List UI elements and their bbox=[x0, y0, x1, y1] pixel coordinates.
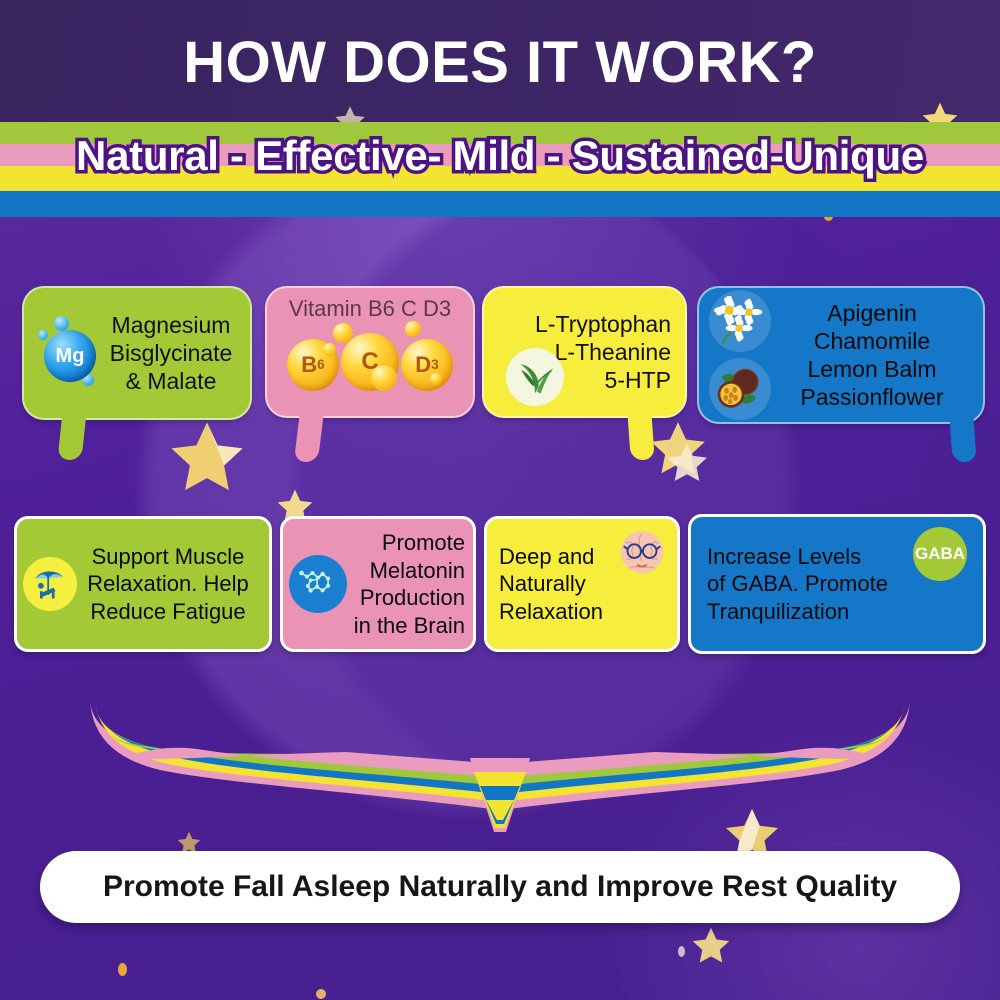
confetti-dot bbox=[118, 963, 127, 976]
card-gaba[interactable]: Increase Levels of GABA. Promote Tranqui… bbox=[688, 514, 986, 654]
green-leaf-icon bbox=[506, 348, 564, 406]
star-decoration bbox=[690, 925, 732, 967]
card-muscle-relaxation[interactable]: Support Muscle Relaxation. Help Reduce F… bbox=[14, 516, 272, 652]
benefits-row: Support Muscle Relaxation. Help Reduce F… bbox=[0, 512, 1000, 662]
card-magnesium-text: Magnesium Bisglycinate & Malate bbox=[104, 311, 238, 395]
stripe-blue bbox=[0, 191, 1000, 217]
herb-icon-group bbox=[705, 290, 771, 420]
card-melatonin-text: Promote Melatonin Production in the Brai… bbox=[347, 529, 465, 639]
vitamin-capsules-icon: B6 C D3 bbox=[275, 325, 465, 391]
capsule-d3: D3 bbox=[401, 339, 453, 391]
card-melatonin[interactable]: Promote Melatonin Production in the Brai… bbox=[280, 516, 476, 652]
star-decoration bbox=[664, 440, 710, 486]
card-herbs[interactable]: Apigenin Chamomile Lemon Balm Passionflo… bbox=[697, 286, 985, 424]
page-title: HOW DOES IT WORK? bbox=[0, 33, 1000, 94]
footer-pill: Promote Fall Asleep Naturally and Improv… bbox=[40, 851, 960, 923]
passionfruit-icon bbox=[709, 358, 771, 420]
chamomile-flower-icon bbox=[709, 290, 771, 352]
beach-lounger-icon bbox=[23, 557, 77, 611]
card-gaba-text: Increase Levels of GABA. Promote Tranqui… bbox=[707, 543, 913, 626]
tagline-banner: Natural - Effective- Mild - Sustained-Un… bbox=[0, 132, 1000, 180]
bubble-tail bbox=[949, 416, 976, 462]
confetti-dot bbox=[316, 989, 326, 999]
bubble-tail bbox=[57, 412, 86, 460]
funnel-right-wing bbox=[500, 700, 910, 810]
infographic-canvas: HOW DOES IT WORK? Natural - Effective- M… bbox=[0, 0, 1000, 1000]
gaba-badge-icon: GABA bbox=[913, 527, 967, 581]
card-deep-relaxation[interactable]: Deep and Naturally Relaxation bbox=[484, 516, 680, 652]
card-deep-relaxation-text: Deep and Naturally Relaxation bbox=[499, 543, 613, 626]
rainbow-funnel bbox=[0, 700, 1000, 840]
brain-with-glasses-icon bbox=[613, 525, 671, 583]
card-amino-acids[interactable]: L-Tryptophan L-Theanine 5-HTP bbox=[482, 286, 687, 418]
star-decoration bbox=[166, 417, 248, 499]
ingredients-row: Mg Magnesium Bisglycinate & Malate Vitam… bbox=[0, 278, 1000, 478]
footer-text: Promote Fall Asleep Naturally and Improv… bbox=[103, 870, 897, 904]
card-muscle-relaxation-text: Support Muscle Relaxation. Help Reduce F… bbox=[77, 543, 259, 626]
funnel-left-wing bbox=[90, 700, 500, 810]
card-magnesium[interactable]: Mg Magnesium Bisglycinate & Malate bbox=[22, 286, 252, 420]
card-herbs-text: Apigenin Chamomile Lemon Balm Passionflo… bbox=[771, 299, 973, 411]
bubble-tail bbox=[294, 410, 324, 462]
melatonin-molecule-icon bbox=[289, 555, 347, 613]
magnesium-icon-label: Mg bbox=[44, 330, 96, 382]
confetti-dot bbox=[678, 946, 685, 957]
card-vitamins-heading: Vitamin B6 C D3 bbox=[289, 296, 451, 323]
magnesium-molecule-icon: Mg bbox=[36, 316, 104, 390]
card-vitamins[interactable]: Vitamin B6 C D3 B6 C D3 bbox=[265, 286, 475, 418]
